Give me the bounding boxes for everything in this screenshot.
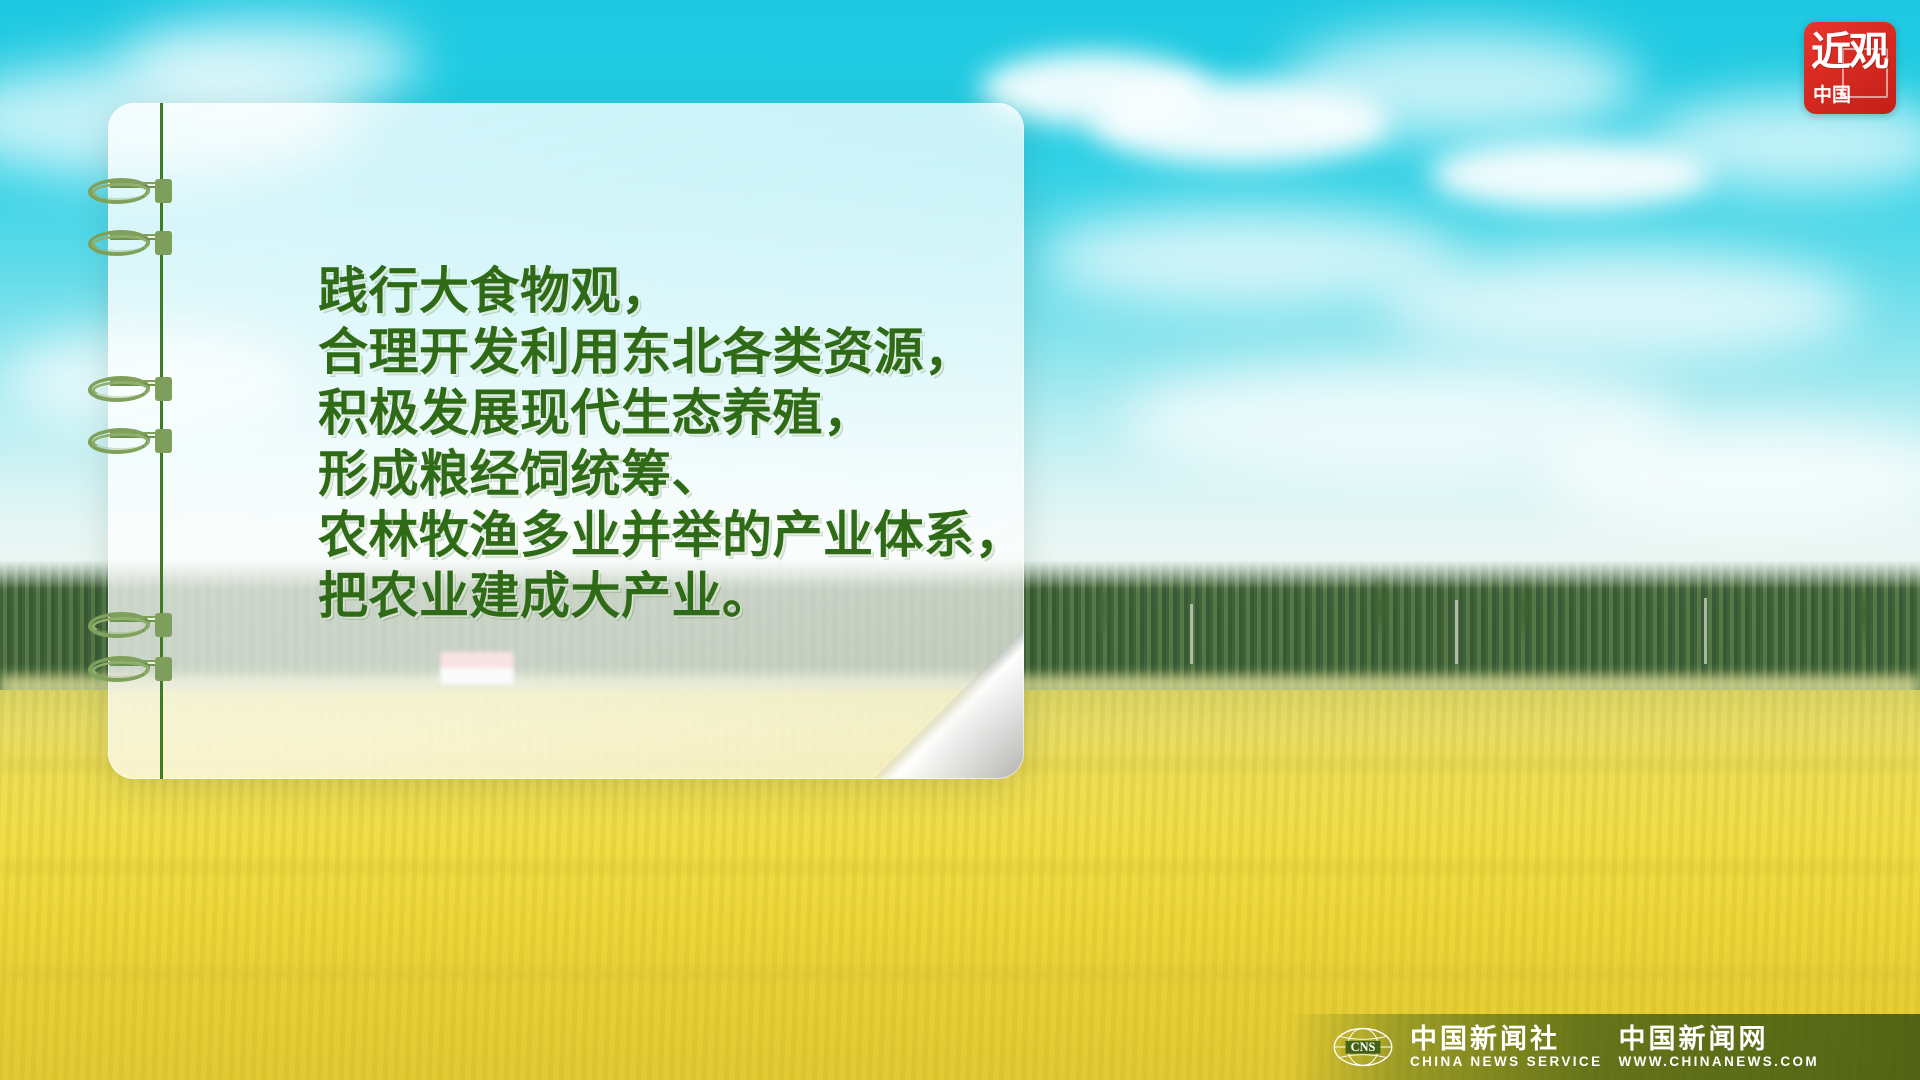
cloud [1380,250,1860,360]
cns-agency-block: 中国新闻社 CHINA NEWS SERVICE [1410,1025,1602,1070]
field-stripe [0,862,1920,872]
quote-line: 积极发展现代生态养殖， [318,383,1024,444]
quote-line: 践行大食物观， [318,261,1024,322]
quote-card: 践行大食物观， 合理开发利用东北各类资源， 积极发展现代生态养殖， 形成粮经饲统… [108,103,1024,779]
cns-watermark-bar: CNS 中国新闻社 CHINA NEWS SERVICE 中国新闻网 WWW.C… [1288,1014,1920,1080]
tree [1852,576,1876,670]
cns-site-block: 中国新闻网 WWW.CHINANEWS.COM [1618,1025,1819,1070]
spiral-ring [88,424,172,458]
logo-main-text: 近观 [1811,32,1887,72]
cloud [1280,30,1640,140]
cns-agency-cn: 中国新闻社 [1410,1025,1602,1054]
utility-pole [1704,598,1707,664]
spiral-ring [88,608,172,642]
cns-site-en: WWW.CHINANEWS.COM [1618,1054,1819,1070]
utility-pole [1190,604,1193,664]
quote-line: 农林牧渔多业并举的产业体系， [318,505,1024,566]
jinguan-zhongguo-logo[interactable]: 近观 中国 [1804,22,1896,114]
quote-line: 形成粮经饲统筹、 [318,444,1024,505]
cloud [120,18,420,108]
quote-line: 合理开发利用东北各类资源， [318,322,1024,383]
spiral-ring [88,652,172,686]
tree [1092,572,1114,668]
svg-text:CNS: CNS [1351,1040,1376,1054]
tree [1368,566,1394,670]
spiral-ring [88,226,172,260]
page-curl-shadow [874,629,1024,779]
spiral-ring [88,174,172,208]
cns-site-cn: 中国新闻网 [1618,1025,1819,1054]
cns-globe-icon: CNS [1332,1027,1394,1067]
cns-agency-en: CHINA NEWS SERVICE [1410,1054,1602,1070]
spiral-ring [88,372,172,406]
quote-line: 把农业建成大产业。 [318,566,1024,627]
tree [1512,570,1536,670]
quote-text-block: 践行大食物观， 合理开发利用东北各类资源， 积极发展现代生态养殖， 形成粮经饲统… [318,261,1024,627]
field-stripe [0,970,1920,980]
utility-pole [1455,600,1458,664]
logo-sub-text: 中国 [1813,86,1851,105]
